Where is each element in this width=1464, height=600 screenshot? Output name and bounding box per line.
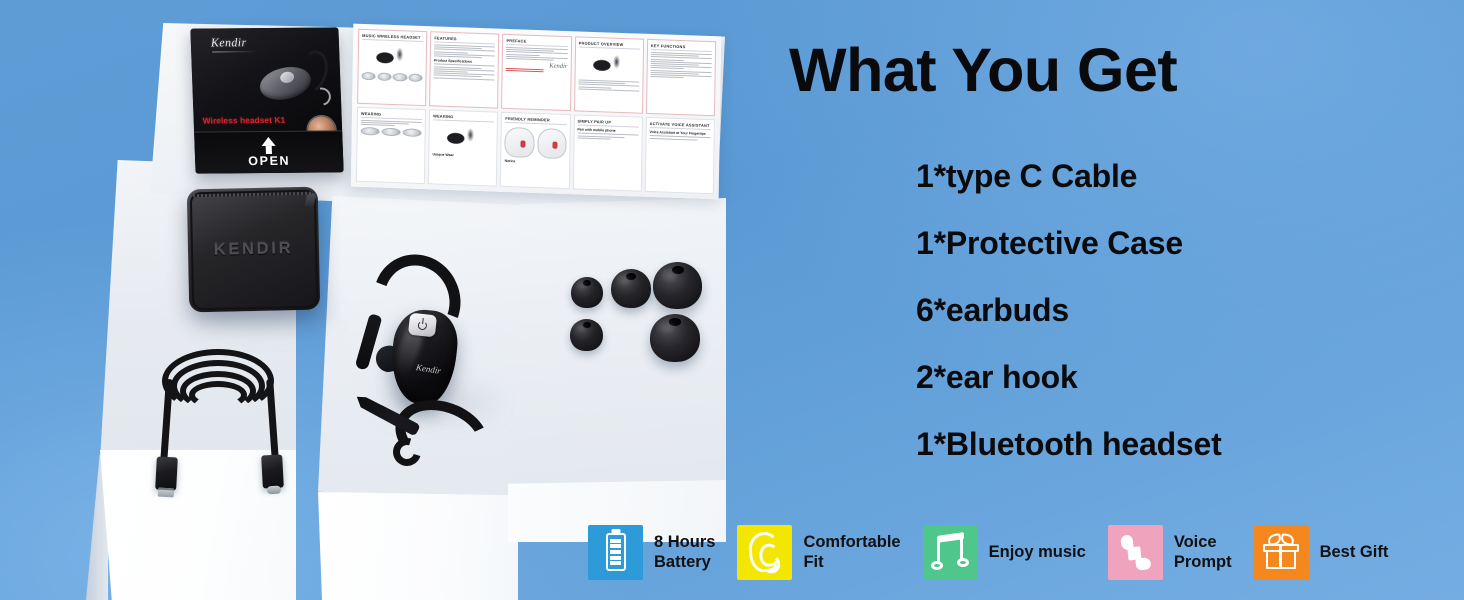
manual-text-block	[578, 79, 639, 91]
pedestal-mid-front	[318, 492, 518, 600]
page-title: What You Get	[789, 40, 1177, 101]
list-item: 6*earbuds	[916, 277, 1222, 344]
badge-label: Enjoy music	[989, 542, 1086, 562]
earbud-tip-small	[571, 277, 603, 308]
earbud-tip-small	[570, 319, 603, 351]
badge-voice-prompt: Voice Prompt	[1108, 525, 1232, 580]
badge-label: Voice Prompt	[1174, 532, 1232, 572]
manual-cell-reminder: FRIENDLY REMINDER Notice	[500, 112, 570, 189]
badge-best-gift: Best Gift	[1254, 525, 1389, 580]
earbud-tip-medium	[611, 269, 651, 308]
manual-heading: MUSIC WIRELESS HEADSET	[362, 33, 423, 42]
badge-enjoy-music: Enjoy music	[923, 525, 1086, 580]
list-item: 1*Bluetooth headset	[916, 411, 1222, 478]
manual-text-block	[434, 44, 495, 58]
up-arrow-icon	[261, 137, 275, 146]
manual-icon	[409, 74, 423, 82]
cable-leg	[160, 379, 172, 465]
manual-cell-wearing-1: WEARING	[356, 107, 426, 184]
manual-icon	[402, 128, 421, 137]
music-note-icon	[933, 534, 967, 570]
ear-icon	[747, 530, 783, 573]
manual-text-block	[577, 133, 638, 141]
case-brand-logo: KENDIR	[187, 187, 321, 313]
badge-tile	[1108, 525, 1163, 580]
badge-tile	[1254, 525, 1309, 580]
manual-heading: PREFACE	[506, 38, 567, 47]
gift-icon	[1263, 535, 1299, 569]
product-infographic: Kendir Wireless headset K1 Crystal-clear…	[0, 0, 1464, 600]
cable-leg	[266, 379, 278, 461]
manual-cell-key-functions: KEY FUNCTIONS	[646, 39, 716, 116]
badge-battery: 8 Hours Battery	[588, 525, 715, 580]
manual-product-image	[578, 49, 640, 79]
box-open-band: OPEN	[194, 130, 344, 173]
instruction-manual-sheet: MUSIC WIRELESS HEADSET FEATURES	[351, 24, 721, 200]
manual-cell-pair-up: SIMPLY PAIR UP Pair with mobile phone	[572, 114, 642, 191]
manual-cell-cover: MUSIC WIRELESS HEADSET	[357, 29, 427, 106]
manual-cell-features: FEATURES Product Specifications	[429, 31, 499, 108]
usb-c-connector	[261, 454, 284, 488]
manual-heading: WEARING	[361, 111, 422, 120]
list-item: 1*Protective Case	[916, 210, 1222, 277]
manual-heading: FEATURES	[434, 35, 495, 44]
badge-tile	[923, 525, 978, 580]
manual-text-block	[649, 135, 710, 140]
box-open-label: OPEN	[248, 154, 290, 168]
manual-row-top: MUSIC WIRELESS HEADSET FEATURES	[357, 29, 716, 116]
badge-tile	[737, 525, 792, 580]
manual-cell-preface: PREFACE Kendir	[501, 34, 571, 111]
box-product-title: Wireless headset K1	[203, 115, 286, 126]
manual-icon	[377, 72, 391, 80]
box-product-render	[254, 47, 330, 110]
power-button-icon	[408, 313, 437, 338]
manual-text-block	[434, 64, 495, 80]
list-item: 2*ear hook	[916, 344, 1222, 411]
manual-heading: WEARING	[433, 113, 494, 122]
manual-icon	[382, 128, 401, 137]
phone-icon	[1117, 534, 1153, 570]
manual-subheading: Notice	[505, 159, 566, 165]
usb-a-connector	[155, 456, 178, 490]
spare-ear-hook	[350, 398, 502, 490]
manual-text-block	[506, 47, 567, 61]
cable-loop	[189, 381, 247, 409]
badge-comfortable-fit: Comfortable Fit	[737, 525, 900, 580]
manual-heading: KEY FUNCTIONS	[651, 43, 712, 52]
feature-badge-row: 8 Hours Battery Comfortable Fit Enjoy mu…	[588, 516, 1448, 588]
manual-text-block	[650, 52, 712, 79]
manual-icon	[393, 73, 407, 81]
manual-heading: FRIENDLY REMINDER	[505, 116, 566, 125]
manual-cell-wearing-2: WEARING Unique Wear	[428, 109, 498, 186]
earbud-tip-large	[650, 314, 700, 362]
manual-cell-overview: PRODUCT OVERVIEW	[574, 36, 644, 113]
battery-icon	[606, 533, 626, 571]
product-photo-stage: Kendir Wireless headset K1 Crystal-clear…	[0, 0, 780, 600]
manual-product-image	[362, 42, 424, 72]
manual-head-icon	[505, 127, 535, 158]
badge-tile	[588, 525, 643, 580]
badge-label: Comfortable Fit	[803, 532, 900, 572]
bluetooth-headset: Kendir	[352, 252, 492, 412]
manual-wearing-image	[433, 122, 495, 152]
badge-label: 8 Hours Battery	[654, 532, 715, 572]
manual-step-images	[361, 127, 422, 137]
manual-row-bottom: WEARING WEARING Unique Wear	[356, 107, 715, 194]
manual-icon	[361, 72, 375, 80]
manual-heading: SIMPLY PAIR UP	[577, 118, 638, 127]
list-item: 1*type C Cable	[916, 143, 1222, 210]
protective-case: KENDIR	[187, 187, 321, 313]
contents-list: 1*type C Cable 1*Protective Case 6*earbu…	[916, 143, 1222, 478]
manual-subheading: Unique Wear	[432, 152, 493, 158]
retail-box: Kendir Wireless headset K1 Crystal-clear…	[190, 27, 343, 173]
usb-type-c-cable	[150, 345, 290, 490]
badge-label: Best Gift	[1320, 542, 1389, 562]
manual-feature-icons	[361, 72, 422, 82]
manual-cell-voice-assistant: ACTIVATE VOICE ASSISTANT Voice Assistant…	[645, 117, 715, 194]
manual-heading: PRODUCT OVERVIEW	[579, 40, 640, 49]
manual-icon	[361, 127, 380, 136]
earbud-tip-large	[653, 262, 702, 309]
ear-hook-arc	[385, 388, 498, 485]
manual-head-icon	[537, 128, 567, 159]
manual-heading: ACTIVATE VOICE ASSISTANT	[650, 121, 711, 130]
manual-head-diagrams	[505, 125, 567, 159]
